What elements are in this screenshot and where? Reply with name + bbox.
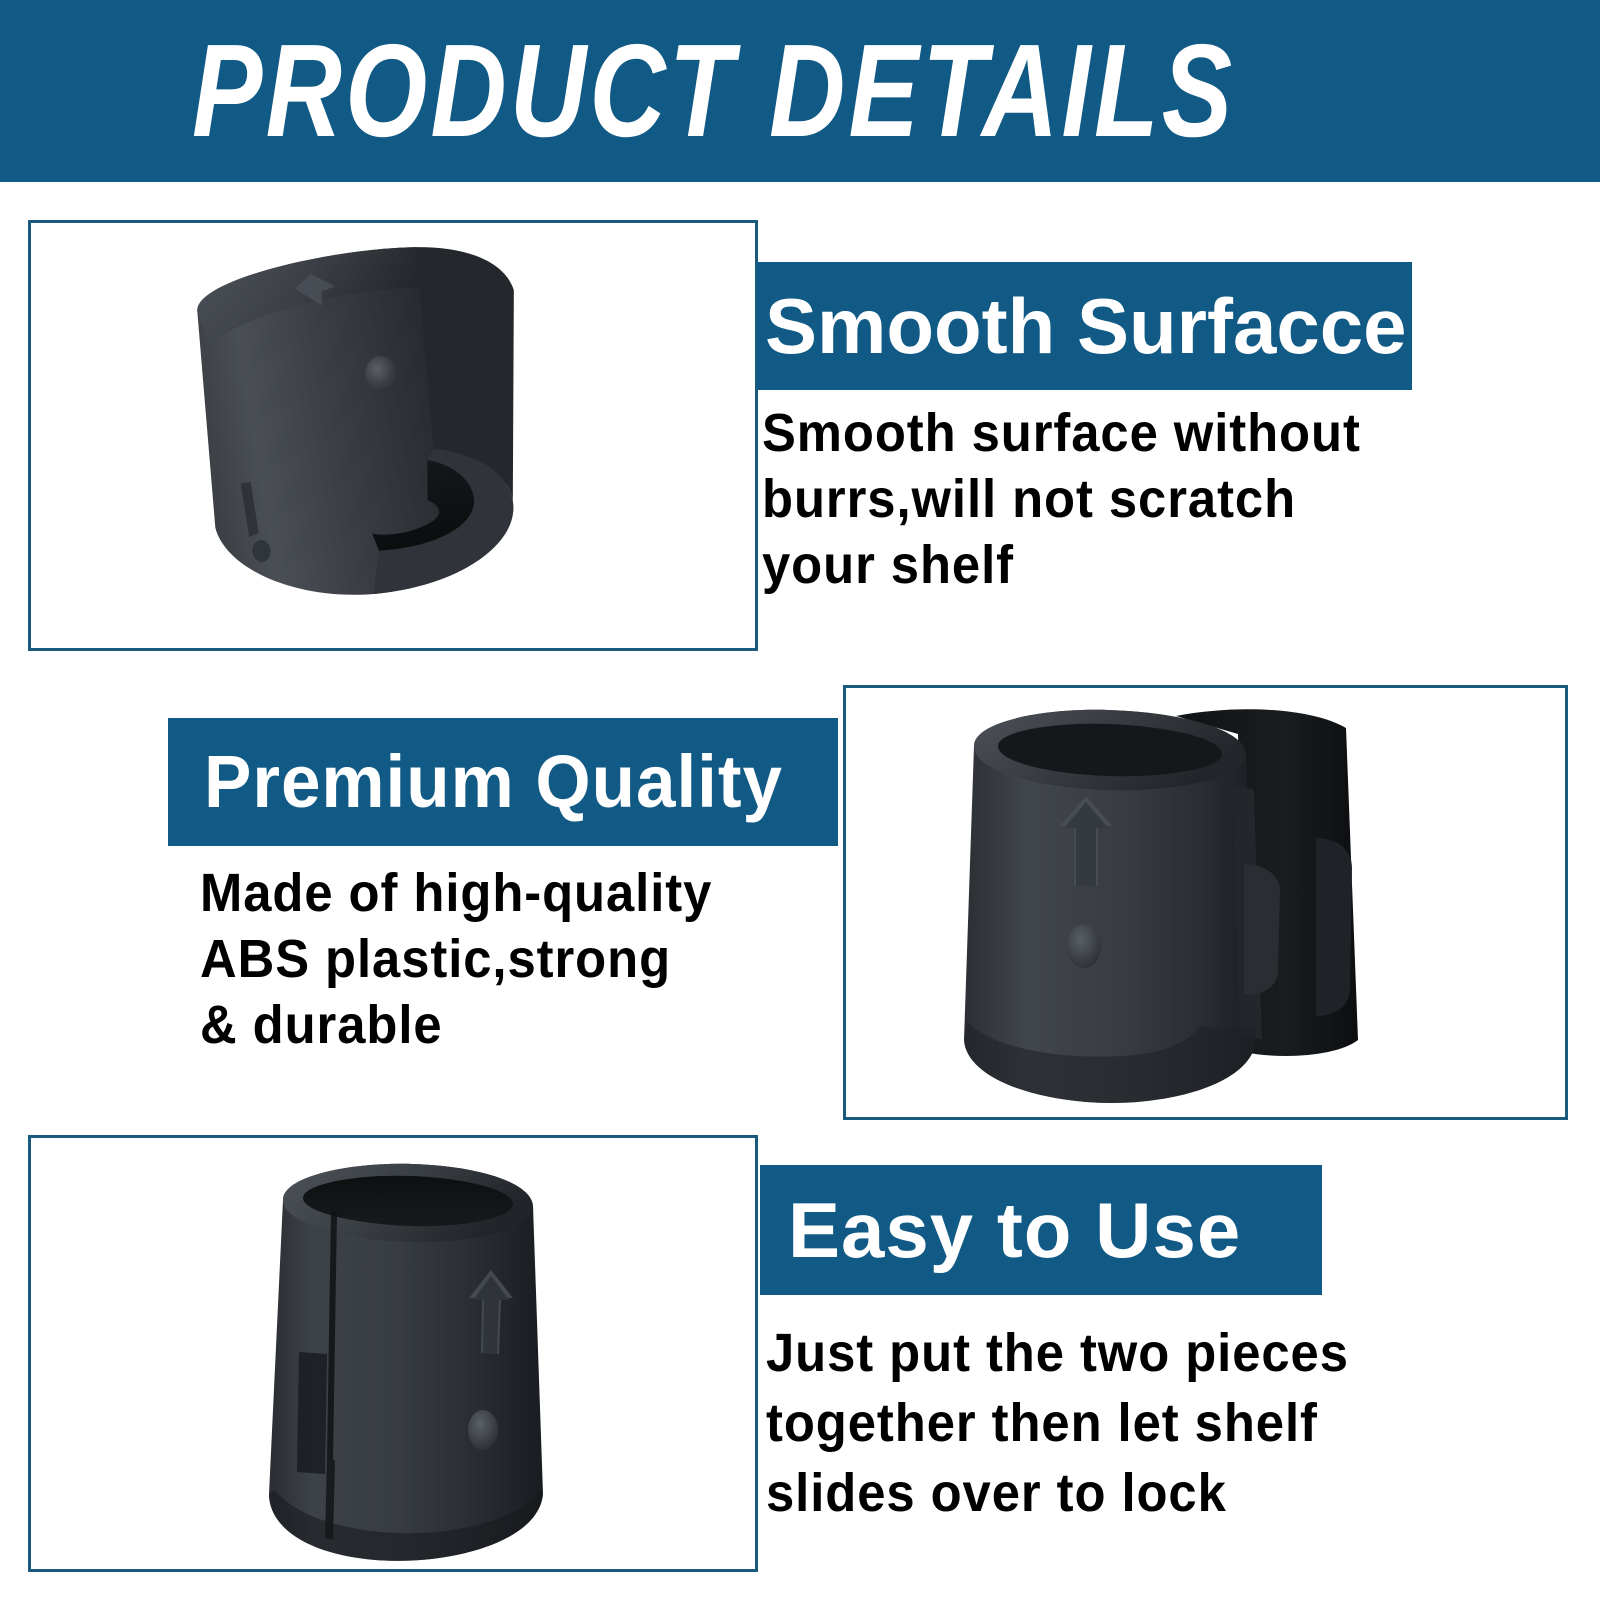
section-banner-easy-to-use: Easy to Use [760,1165,1322,1295]
page-title: PRODUCT DETAILS [192,16,1235,166]
section-body-easy-to-use: Just put the two pieces together then le… [766,1318,1443,1528]
section-heading-smooth-surface: Smooth Surfacce [765,281,1406,371]
section-body-smooth-surface: Smooth surface without burrs,will not sc… [762,400,1420,598]
open-sleeve-illustration [846,688,1565,1117]
section-banner-smooth-surface: Smooth Surfacce [757,262,1412,390]
product-photo-assembled-sleeve [31,1138,755,1569]
product-photo-half-sleeve [31,223,755,648]
section-banner-premium-quality: Premium Quality [168,718,838,846]
assembled-sleeve-illustration [31,1138,755,1569]
header-banner: PRODUCT DETAILS [0,0,1600,182]
product-image-box-smooth-surface [28,220,758,651]
half-sleeve-illustration [31,223,755,648]
product-image-box-easy-to-use [28,1135,758,1572]
product-photo-open-sleeve [846,688,1565,1117]
section-heading-premium-quality: Premium Quality [204,739,783,825]
section-heading-easy-to-use: Easy to Use [788,1185,1241,1275]
product-image-box-premium-quality [843,685,1568,1120]
section-body-premium-quality: Made of high-quality ABS plastic,strong … [200,860,839,1058]
